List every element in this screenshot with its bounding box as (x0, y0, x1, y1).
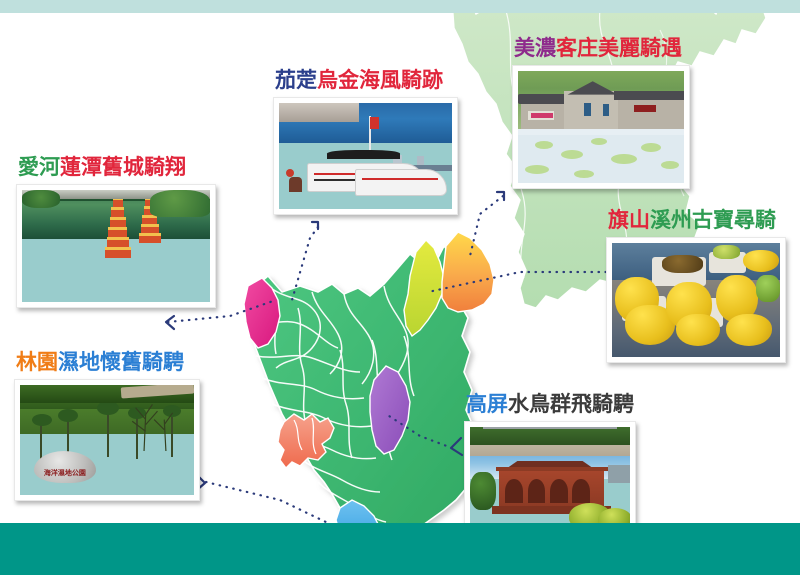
card-love-river-photo[interactable] (16, 184, 216, 308)
boat-flag (370, 117, 379, 129)
card-qishan[interactable]: 旗山溪州古寶尋騎 (606, 208, 786, 363)
park-monument-rock: 海洋濕地公園 (34, 451, 96, 483)
map-region-meinong[interactable] (442, 232, 494, 312)
bare-branches (104, 401, 184, 452)
boat-awning (327, 150, 400, 159)
card-meinong-title-a: 美濃 (514, 36, 556, 60)
card-linyuan-title-b: 濕地懷舊騎騁 (58, 350, 184, 374)
bottom-accent-band (0, 523, 800, 575)
pagoda-left-icon (105, 190, 131, 253)
park-monument-caption: 海洋濕地公園 (39, 468, 91, 478)
card-qishan-title-a: 旗山 (608, 208, 650, 232)
card-gaoping-title: 高屏水鳥群飛騎騁 (466, 392, 636, 416)
bollard (289, 177, 302, 192)
poster-stage: 愛河蓮潭舊城騎翔 (0, 0, 800, 575)
card-love-river-title-a: 愛河 (18, 155, 60, 179)
card-qishan-title-b: 溪州古寶尋騎 (650, 208, 776, 232)
card-love-river-title-b: 蓮潭舊城騎翔 (60, 155, 186, 179)
card-qieding-title-a: 茄萣 (275, 68, 317, 92)
card-qishan-title: 旗山溪州古寶尋騎 (608, 208, 786, 232)
card-qieding-photo[interactable] (273, 97, 458, 215)
card-qieding[interactable]: 茄萣烏金海風騎跡 (273, 68, 458, 215)
card-gaoping-title-a: 高屏 (466, 392, 508, 416)
top-accent-band (0, 0, 800, 13)
card-qishan-photo[interactable] (606, 237, 786, 363)
card-linyuan-title-a: 林園 (16, 350, 58, 374)
boat-hull-2 (355, 169, 447, 196)
card-meinong-photo[interactable] (512, 65, 690, 189)
card-qieding-title: 茄萣烏金海風騎跡 (275, 68, 458, 92)
card-linyuan[interactable]: 林園濕地懷舊騎騁 (14, 350, 200, 501)
card-linyuan-title: 林園濕地懷舊騎騁 (16, 350, 200, 374)
card-meinong[interactable]: 美濃客庄美麗騎遇 (512, 36, 690, 189)
card-gaoping-title-b: 水鳥群飛騎騁 (508, 392, 634, 416)
card-love-river[interactable]: 愛河蓮潭舊城騎翔 (16, 155, 216, 308)
card-qieding-title-b: 烏金海風騎跡 (317, 68, 443, 92)
card-linyuan-photo[interactable]: 海洋濕地公園 (14, 379, 200, 501)
card-love-river-title: 愛河蓮潭舊城騎翔 (18, 155, 216, 179)
card-meinong-title-b: 客庄美麗騎遇 (556, 36, 682, 60)
card-meinong-title: 美濃客庄美麗騎遇 (514, 36, 690, 60)
